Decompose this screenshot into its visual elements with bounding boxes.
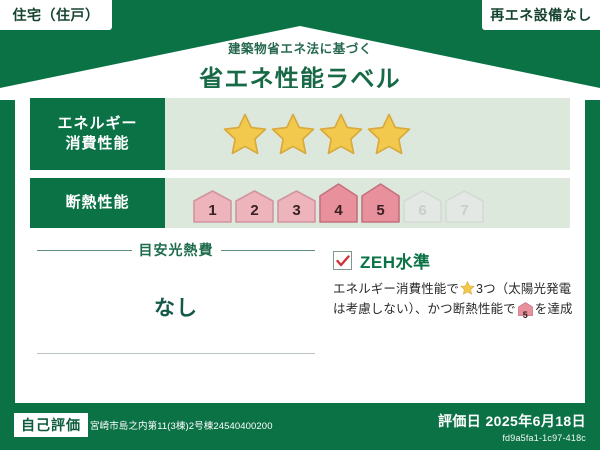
house-inline-value: 5: [518, 308, 533, 323]
insulation-grade-scale: 1234567: [193, 183, 484, 223]
evaluation-date-label: 評価日: [438, 413, 481, 429]
energy-cost-block: 目安光熱費 なし: [37, 240, 315, 322]
insulation-grade-4: 4: [319, 183, 358, 223]
zeh-header: ZEH水準: [333, 248, 581, 273]
insulation-grade-value: 7: [445, 202, 484, 219]
star-icon: [271, 113, 315, 155]
insulation-grade-value: 5: [361, 202, 400, 219]
star-icon-inline: [460, 281, 475, 295]
energy-performance-row: エネルギー 消費性能: [30, 98, 570, 170]
divider-right: [221, 250, 316, 251]
insulation-grade-1: 1: [193, 190, 232, 223]
renewable-energy-label: 再エネ設備なし: [490, 5, 592, 25]
evaluation-id: fd9a5fa1-1c97-418c: [438, 433, 586, 443]
property-address: 宮崎市島之内第11(3棟)2号棟24540400200: [90, 418, 273, 432]
evaluation-date-value: 2025年6月18日: [485, 413, 586, 429]
insulation-grade-3: 3: [277, 190, 316, 223]
energy-performance-value: [165, 98, 570, 170]
zeh-checkbox[interactable]: [333, 251, 352, 270]
energy-cost-title: 目安光熱費: [139, 240, 214, 260]
energy-cost-header: 目安光熱費: [37, 240, 315, 260]
insulation-performance-row: 断熱性能 1234567: [30, 178, 570, 228]
insulation-grade-5: 5: [361, 183, 400, 223]
insulation-performance-label-box: 断熱性能: [30, 178, 165, 228]
building-type-badge: 住宅（住戸）: [0, 0, 112, 30]
insulation-grade-value: 2: [235, 202, 274, 219]
star-rating: [223, 113, 411, 155]
zeh-block: ZEH水準 エネルギー消費性能で3つ（太陽光発電 は考慮しない）、かつ断熱性能で…: [333, 248, 581, 323]
energy-label-line1: エネルギー: [57, 114, 137, 134]
insulation-grade-value: 1: [193, 202, 232, 219]
star-icon: [367, 113, 411, 155]
star-icon: [319, 113, 363, 155]
insulation-label: 断熱性能: [65, 193, 129, 213]
check-icon: [336, 255, 350, 267]
insulation-grade-value: 4: [319, 202, 358, 219]
cost-bottom-divider: [37, 353, 315, 354]
energy-performance-label: 住宅（住戸） 再エネ設備なし 建築物省エネ法に基づく 省エネ性能ラベル エネルギ…: [0, 0, 600, 450]
insulation-grade-7: 7: [445, 190, 484, 223]
zeh-desc-stars: 3つ（太陽光発電: [476, 282, 571, 296]
star-icon: [223, 113, 267, 155]
footer: 自己評価 宮崎市島之内第11(3棟)2号棟24540400200 評価日 202…: [0, 403, 600, 450]
insulation-grade-value: 6: [403, 202, 442, 219]
insulation-grade-2: 2: [235, 190, 274, 223]
zeh-title: ZEH水準: [360, 248, 431, 273]
insulation-grade-6: 6: [403, 190, 442, 223]
divider-left: [37, 250, 132, 251]
insulation-grade-value: 3: [277, 202, 316, 219]
insulation-performance-value: 1234567: [165, 178, 570, 228]
zeh-desc-part1: エネルギー消費性能で: [333, 282, 459, 296]
zeh-desc-part2: は考慮しない）、かつ断熱性能で: [333, 302, 516, 316]
content-panel: エネルギー 消費性能 断熱性能 1234567 目安光熱費 なし: [15, 88, 585, 403]
energy-cost-value: なし: [37, 292, 315, 322]
energy-label-line2: 消費性能: [65, 134, 129, 154]
footer-right: 評価日 2025年6月18日 fd9a5fa1-1c97-418c: [438, 411, 586, 443]
evaluation-date: 評価日 2025年6月18日: [438, 411, 586, 431]
building-type-label: 住宅（住戸）: [13, 5, 100, 25]
zeh-desc-part3: を達成: [535, 302, 573, 316]
self-evaluation-badge: 自己評価: [14, 413, 88, 437]
house-icon-inline: 5: [518, 302, 533, 322]
zeh-description: エネルギー消費性能で3つ（太陽光発電 は考慮しない）、かつ断熱性能で5を達成: [333, 279, 581, 323]
energy-performance-label-box: エネルギー 消費性能: [30, 98, 165, 170]
renewable-energy-badge: 再エネ設備なし: [482, 0, 600, 30]
